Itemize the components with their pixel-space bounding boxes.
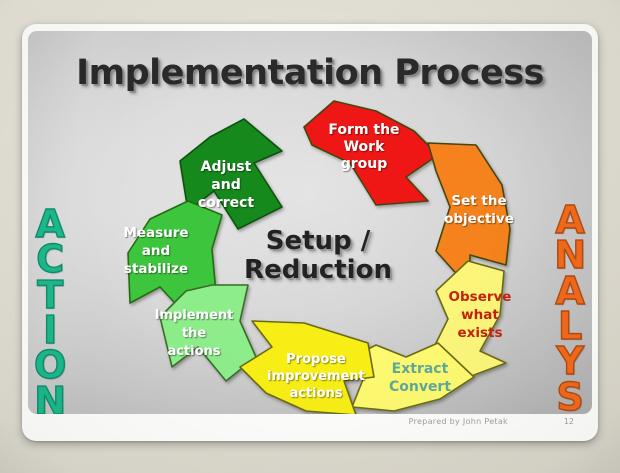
side-banner-action-letter: N xyxy=(34,384,66,414)
side-banner-analyse-letter: S xyxy=(556,380,583,414)
cycle-segment-form-work-group[interactable] xyxy=(304,101,438,205)
presentation-slide: Implementation Process xyxy=(22,24,598,441)
photo-frame: Implementation Process xyxy=(0,0,620,473)
slide-footer: Prepared by John Petak 12 xyxy=(28,414,592,436)
side-banner-analyse: A N A L Y S E xyxy=(554,203,586,414)
slide-page-number: 12 xyxy=(564,417,574,426)
side-banner-action: A C T I O N xyxy=(34,207,66,414)
cycle-segment-propose-improvement-actions[interactable] xyxy=(240,321,374,414)
footer-credit: Prepared by John Petak xyxy=(409,417,508,426)
implementation-cycle-diagram: Form the Work group Adjust and correct S… xyxy=(76,89,546,414)
slide-body: Implementation Process xyxy=(28,31,592,414)
page-title: Implementation Process xyxy=(28,53,592,93)
